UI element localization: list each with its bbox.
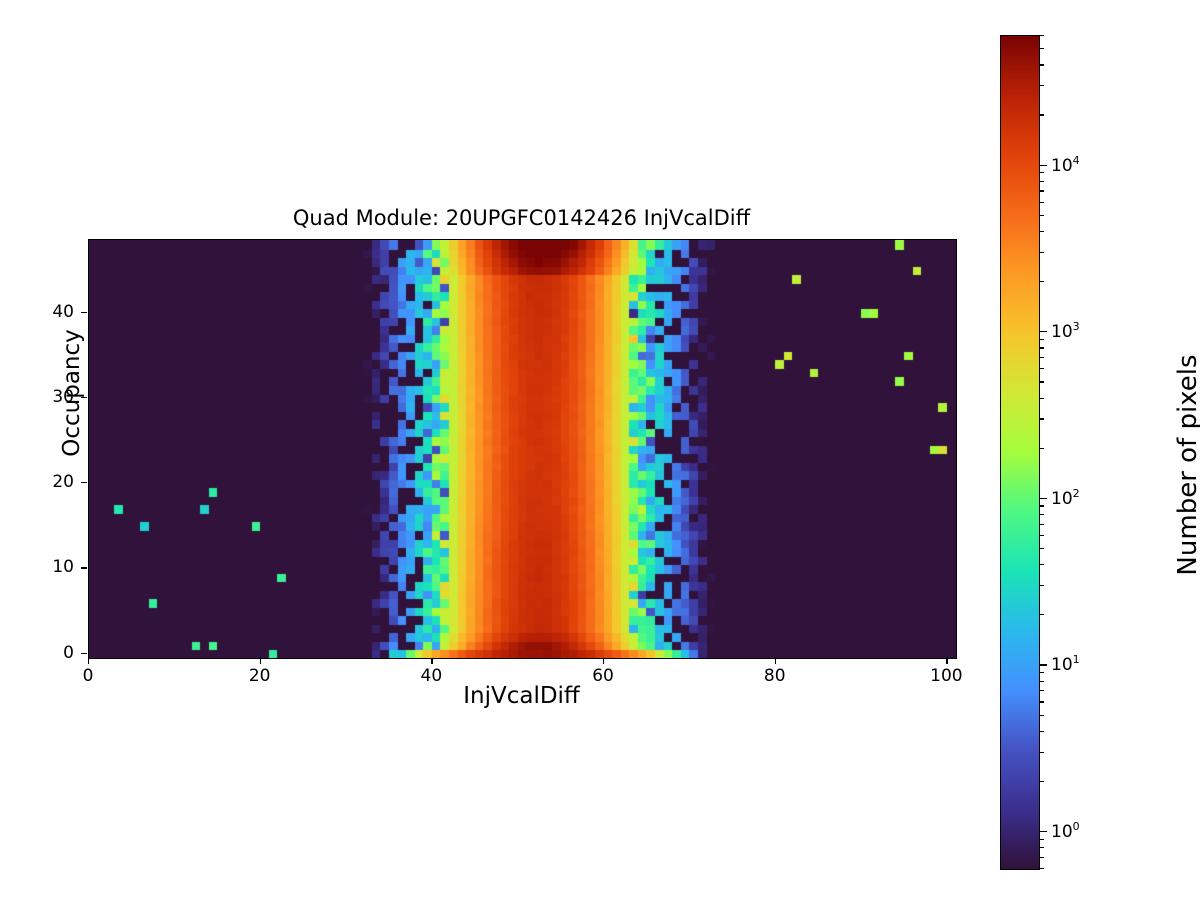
y-tick-label: 10 (52, 557, 74, 577)
colorbar-minor-tick (1040, 339, 1044, 340)
x-tick-mark (946, 658, 947, 664)
x-tick-label: 80 (764, 666, 786, 686)
page-title: Quad Module: 20UPGFC0142426 InjVcalDiff (88, 206, 955, 230)
colorbar-minor-tick (1040, 701, 1044, 702)
colorbar-minor-tick (1040, 715, 1044, 716)
colorbar-minor-tick (1040, 448, 1044, 449)
y-tick-mark (81, 653, 87, 654)
colorbar-minor-tick (1040, 85, 1044, 86)
x-tick-label: 20 (249, 666, 271, 686)
colorbar-minor-tick (1040, 524, 1044, 525)
colorbar-minor-tick (1040, 505, 1044, 506)
colorbar-minor-tick (1040, 252, 1044, 253)
colorbar-tick-label: 101 (1051, 654, 1080, 676)
colorbar-tick-label: 102 (1051, 487, 1080, 509)
colorbar-minor-tick (1040, 64, 1044, 65)
colorbar-tick-label: 100 (1051, 820, 1080, 842)
y-tick-label: 40 (52, 302, 74, 322)
colorbar-minor-tick (1040, 681, 1044, 682)
colorbar-minor-tick (1040, 172, 1044, 173)
colorbar-minor-tick (1040, 868, 1044, 869)
colorbar-minor-tick (1040, 202, 1044, 203)
y-tick-mark (81, 482, 87, 483)
x-tick-mark (431, 658, 432, 664)
x-tick-label: 100 (930, 666, 962, 686)
colorbar-minor-tick (1040, 114, 1044, 115)
colorbar-minor-tick (1040, 381, 1044, 382)
colorbar-major-tick (1040, 831, 1047, 832)
colorbar-minor-tick (1040, 614, 1044, 615)
colorbar-minor-tick (1040, 368, 1044, 369)
colorbar-minor-tick (1040, 231, 1044, 232)
colorbar-minor-tick (1040, 48, 1044, 49)
colorbar-minor-tick (1040, 357, 1044, 358)
x-tick-label: 60 (592, 666, 614, 686)
x-tick-mark (603, 658, 604, 664)
colorbar-minor-tick (1040, 35, 1044, 36)
colorbar-major-tick (1040, 664, 1047, 665)
y-tick-label: 20 (52, 472, 74, 492)
x-tick-mark (88, 658, 89, 664)
y-tick-mark (81, 397, 87, 398)
y-tick-label: 30 (52, 387, 74, 407)
x-tick-mark (775, 658, 776, 664)
colorbar-major-tick (1040, 498, 1047, 499)
colorbar-minor-tick (1040, 585, 1044, 586)
colorbar-minor-tick (1040, 398, 1044, 399)
colorbar-tick-label: 103 (1051, 320, 1080, 342)
x-tick-label: 40 (421, 666, 443, 686)
colorbar-minor-tick (1040, 564, 1044, 565)
x-tick-label: 0 (83, 666, 94, 686)
colorbar-minor-tick (1040, 535, 1044, 536)
colorbar-minor-tick (1040, 752, 1044, 753)
colorbar-minor-tick (1040, 839, 1044, 840)
y-tick-mark (81, 567, 87, 568)
x-axis-label: InjVcalDiff (88, 683, 955, 709)
matplotlib-figure: Quad Module: 20UPGFC0142426 InjVcalDiff … (0, 0, 1200, 900)
colorbar-minor-tick (1040, 281, 1044, 282)
colorbar-minor-tick (1040, 690, 1044, 691)
colorbar-minor-tick (1040, 514, 1044, 515)
y-tick-label: 0 (63, 643, 74, 663)
colorbar-minor-tick (1040, 215, 1044, 216)
colorbar-minor-tick (1040, 672, 1044, 673)
colorbar-major-tick (1040, 165, 1047, 166)
colorbar-minor-tick (1040, 847, 1044, 848)
colorbar-label: Number of pixels (1173, 255, 1200, 675)
colorbar-minor-tick (1040, 418, 1044, 419)
colorbar-minor-tick (1040, 347, 1044, 348)
colorbar-tick-label: 104 (1051, 154, 1080, 176)
colorbar-major-tick (1040, 331, 1047, 332)
colorbar-minor-tick (1040, 548, 1044, 549)
heatmap-image (89, 240, 956, 658)
colorbar (1000, 35, 1040, 870)
colorbar-minor-tick (1040, 731, 1044, 732)
colorbar-gradient (1001, 36, 1039, 869)
y-tick-mark (81, 312, 87, 313)
colorbar-minor-tick (1040, 781, 1044, 782)
x-tick-mark (260, 658, 261, 664)
colorbar-minor-tick (1040, 857, 1044, 858)
colorbar-minor-tick (1040, 181, 1044, 182)
heatmap-plot-area (88, 239, 957, 659)
colorbar-minor-tick (1040, 190, 1044, 191)
